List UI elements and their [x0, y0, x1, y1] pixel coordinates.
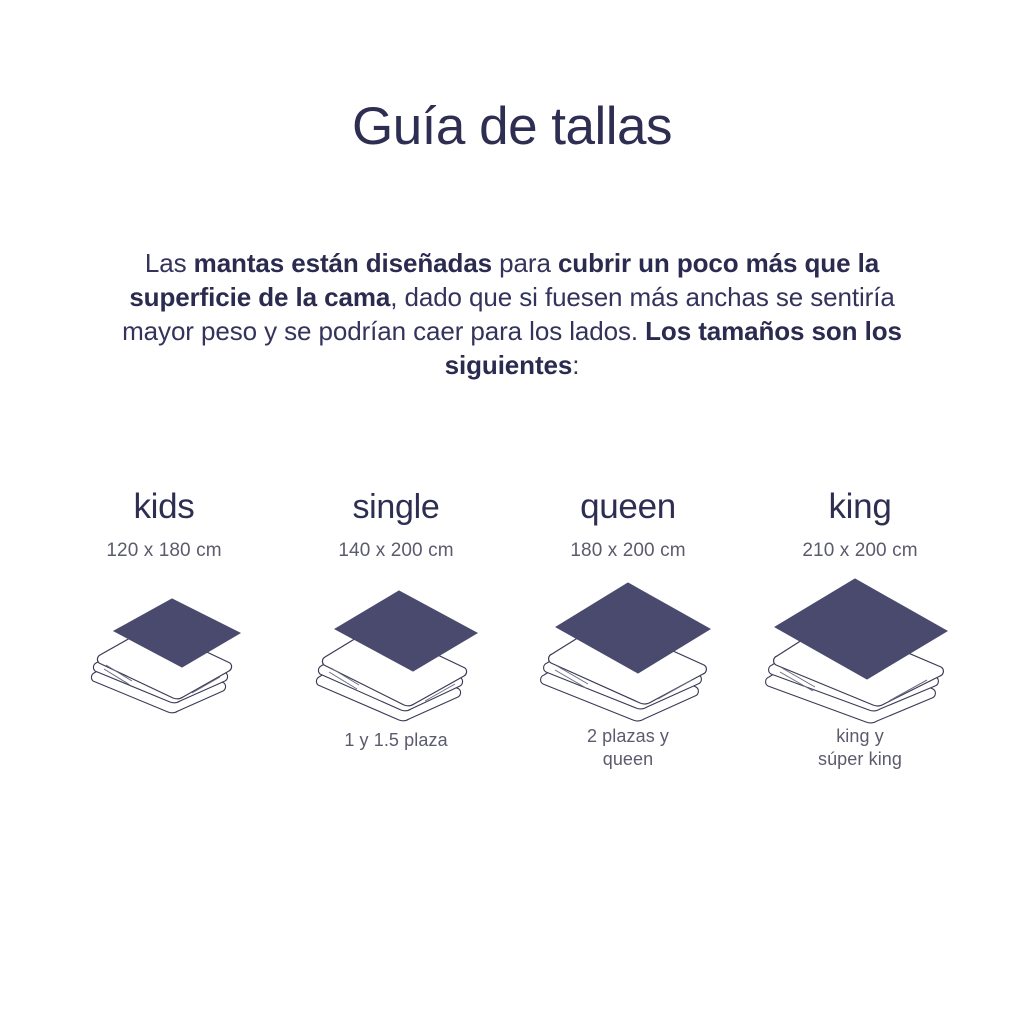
- size-name-kids: kids: [133, 486, 194, 528]
- bed-diagram-single: [280, 573, 512, 723]
- size-name-single: single: [352, 486, 439, 528]
- size-column-single: single 140 x 200 cm 1 y 1.5 plaza: [280, 486, 512, 752]
- intro-text: Las: [145, 248, 194, 278]
- size-dimensions-king: 210 x 200 cm: [802, 539, 917, 563]
- bed-diagram-kids: [48, 577, 280, 727]
- size-column-kids: kids 120 x 180 cm: [48, 486, 280, 733]
- size-dimensions-queen: 180 x 200 cm: [570, 539, 685, 563]
- size-guide-page: Guía de tallas Las mantas están diseñada…: [0, 0, 1024, 1024]
- intro-text: para: [492, 248, 558, 278]
- size-dimensions-single: 140 x 200 cm: [338, 539, 453, 563]
- intro-emphasis: mantas están diseñadas: [194, 248, 492, 278]
- bed-diagram-queen: [512, 569, 744, 719]
- size-name-king: king: [828, 486, 891, 528]
- size-column-king: king 210 x 200 cm king y súper king: [744, 486, 976, 771]
- size-column-queen: queen 180 x 200 cm 2 plazas y queen: [512, 486, 744, 771]
- intro-paragraph: Las mantas están diseñadas para cubrir u…: [0, 246, 1024, 382]
- intro-text: :: [572, 350, 579, 380]
- page-title: Guía de tallas: [0, 96, 1024, 158]
- size-note-single: 1 y 1.5 plaza: [344, 729, 447, 752]
- size-note-king: king y súper king: [818, 725, 902, 771]
- size-dimensions-kids: 120 x 180 cm: [106, 539, 221, 563]
- size-name-queen: queen: [580, 486, 676, 528]
- size-columns: kids 120 x 180 cm: [48, 486, 976, 771]
- bed-diagram-king: [744, 569, 976, 719]
- size-note-queen: 2 plazas y queen: [587, 725, 669, 771]
